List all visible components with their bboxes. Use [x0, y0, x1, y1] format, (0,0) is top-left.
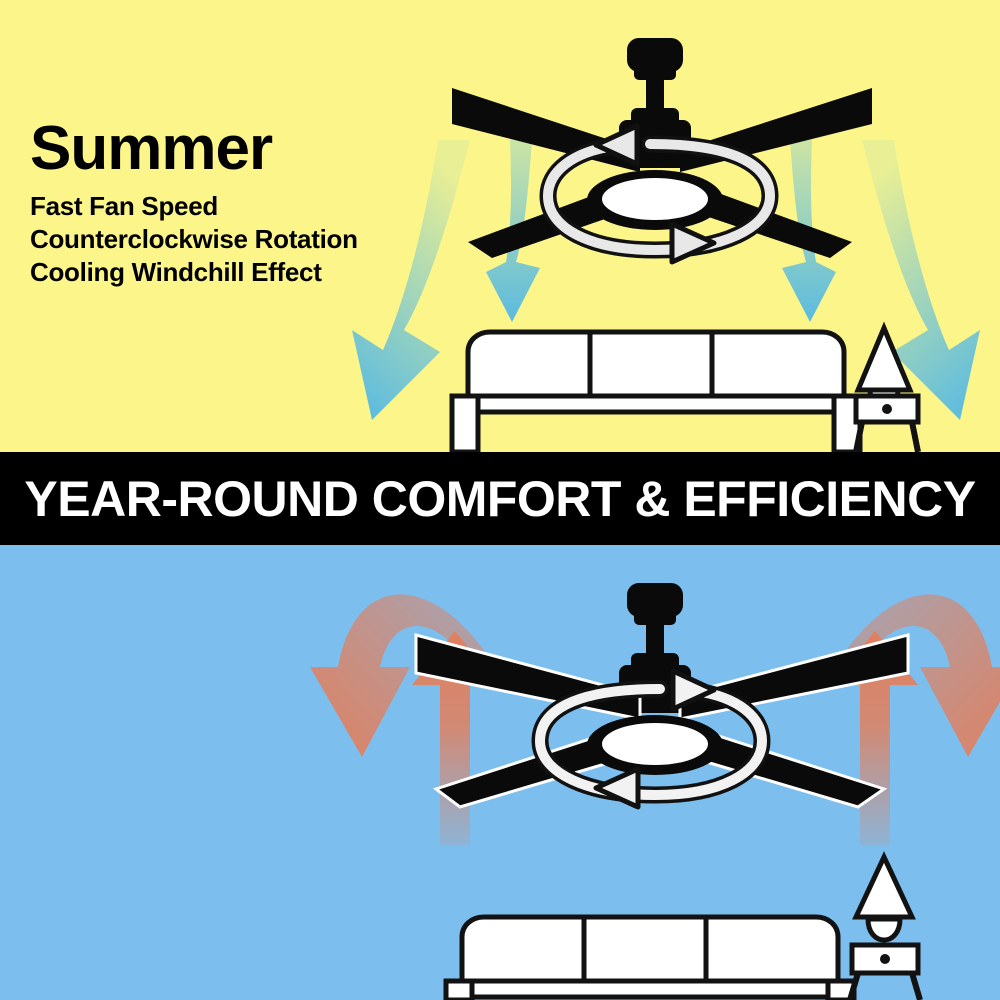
side-table-lamp-winter: [850, 857, 920, 1000]
fan-canopy-ring: [634, 611, 676, 625]
sofa-summer: [452, 332, 860, 452]
table-leg-right: [912, 422, 918, 452]
drawer-knob: [882, 404, 892, 414]
fan-light-globe: [602, 178, 708, 220]
drawer-knob: [880, 954, 890, 964]
fan-blade-top-right: [680, 88, 872, 172]
banner: YEAR-ROUND COMFORT & EFFICIENCY: [0, 452, 1000, 545]
summer-line-2: Counterclockwise Rotation: [30, 223, 358, 256]
summer-line-3: Cooling Windchill Effect: [30, 256, 358, 289]
rotation-arrowhead-bottom: [672, 224, 714, 262]
summer-text-block: Summer Fast Fan Speed Counterclockwise R…: [30, 118, 358, 288]
table-leg-left: [850, 973, 858, 1000]
banner-text: YEAR-ROUND COMFORT & EFFICIENCY: [24, 470, 975, 528]
ceiling-fan-winter: [416, 583, 908, 807]
table-leg-right: [912, 973, 920, 1000]
rotation-arrowhead-bottom: [596, 769, 638, 807]
airflow-arrow-left-large: [352, 140, 470, 420]
sofa-winter: [446, 917, 854, 1000]
winter-illustration: [0, 545, 1000, 1000]
fan-downrod: [646, 623, 664, 657]
sofa-arm-left: [452, 396, 478, 452]
summer-title: Summer: [30, 118, 358, 180]
sofa-base: [449, 981, 851, 997]
lamp-shade: [856, 857, 912, 917]
infographic-page: Summer Fast Fan Speed Counterclockwise R…: [0, 0, 1000, 1000]
fan-canopy-ring: [634, 66, 676, 80]
sofa-arm-left: [446, 981, 472, 1000]
fan-blade-top-left: [452, 88, 640, 172]
summer-panel: Summer Fast Fan Speed Counterclockwise R…: [0, 0, 1000, 452]
lamp-base: [868, 919, 900, 940]
sofa-base: [455, 396, 857, 412]
fan-light-globe: [602, 723, 708, 765]
winter-panel: Winter Slow Fan Speed Clockwise Rotation…: [0, 545, 1000, 1000]
summer-line-1: Fast Fan Speed: [30, 190, 358, 223]
fan-downrod: [646, 78, 664, 112]
